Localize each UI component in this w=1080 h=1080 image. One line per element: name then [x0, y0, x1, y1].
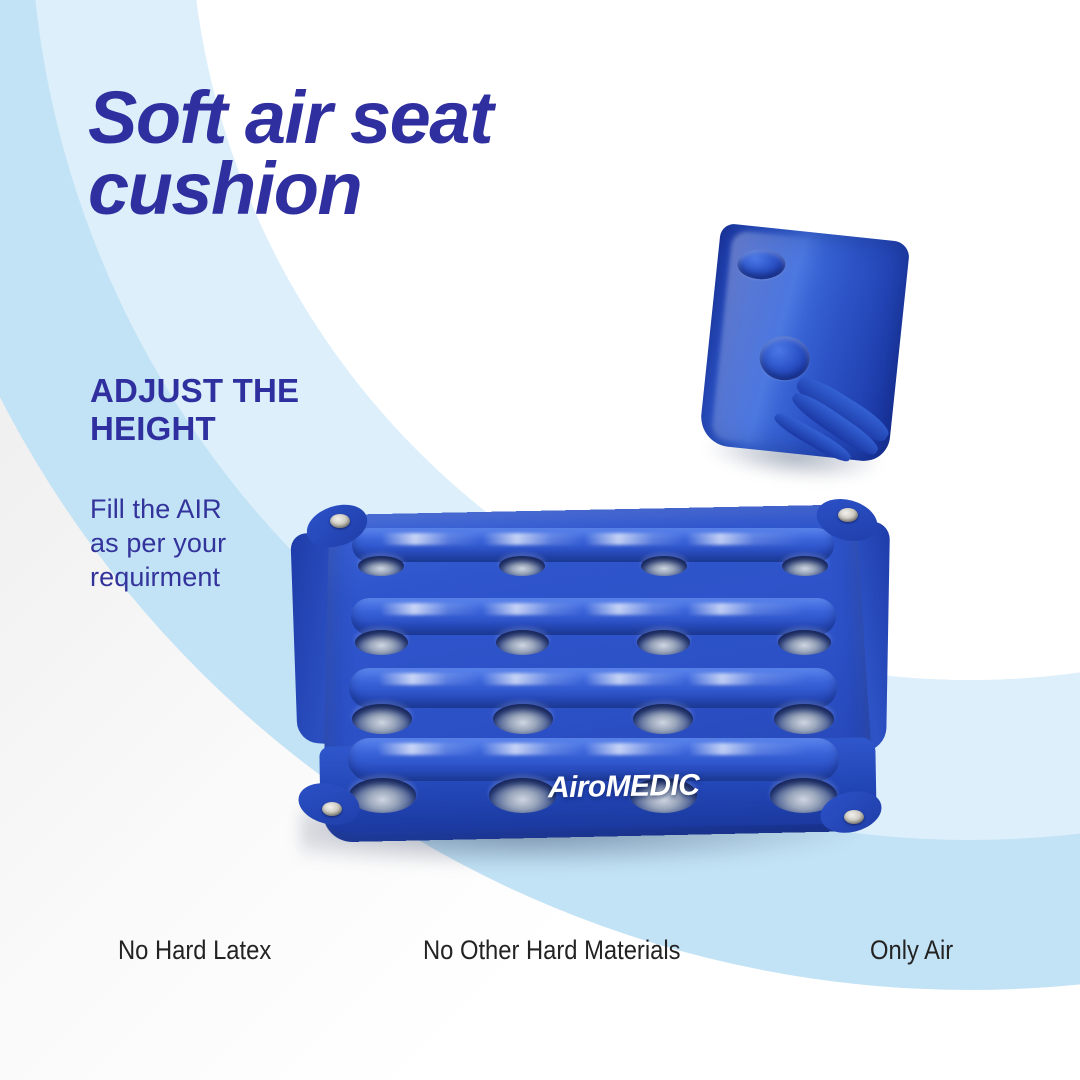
- ad-canvas: Soft air seat cushion ADJUST THE HEIGHT …: [0, 0, 1080, 1080]
- folded-cushion-image: [688, 222, 918, 490]
- page-title: Soft air seat cushion: [88, 82, 728, 224]
- cushion-ridge-highlight: [381, 533, 805, 545]
- cushion-vent-hole: [358, 556, 404, 576]
- cushion-ridge-highlight: [378, 673, 807, 685]
- folded-cushion-air-cell: [760, 336, 810, 380]
- cushion-ridge-row: [349, 668, 837, 708]
- cushion-vent-hole: [641, 556, 687, 576]
- feature-caption-row: No Hard Latex No Other Hard Materials On…: [0, 935, 1080, 985]
- cushion-vent-hole: [489, 778, 556, 813]
- cushion-vent-hole: [499, 556, 545, 576]
- headline-line-2: cushion: [88, 153, 728, 224]
- cushion-ridge-row: [351, 598, 836, 635]
- grommet-icon: [844, 810, 864, 824]
- cushion-ridge-row: [352, 528, 834, 562]
- feature-kicker: ADJUST THE HEIGHT: [90, 372, 390, 449]
- caption-no-other-hard-materials: No Other Hard Materials: [423, 935, 680, 966]
- cushion-vent-hole: [637, 630, 690, 655]
- main-cushion-body: AiroMEDIC: [292, 492, 892, 852]
- cushion-ridge-highlight: [377, 743, 809, 755]
- cushion-vent-hole: [352, 704, 412, 734]
- main-cushion-image: AiroMEDIC: [292, 492, 892, 874]
- cushion-vent-hole: [778, 630, 831, 655]
- grommet-icon: [838, 508, 858, 522]
- cushion-vent-hole: [493, 704, 553, 734]
- grommet-icon: [322, 802, 342, 816]
- cushion-vent-hole: [496, 630, 549, 655]
- cushion-vent-hole: [355, 630, 408, 655]
- folded-cushion-air-cell: [737, 249, 785, 279]
- brand-logo: AiroMEDIC: [548, 769, 700, 806]
- cushion-vent-hole: [774, 704, 834, 734]
- caption-no-hard-latex: No Hard Latex: [118, 935, 271, 966]
- caption-only-air: Only Air: [870, 935, 953, 966]
- cushion-vent-hole: [782, 556, 828, 576]
- grommet-icon: [330, 514, 350, 528]
- cushion-vent-hole: [633, 704, 693, 734]
- cushion-ridge-highlight: [380, 603, 807, 615]
